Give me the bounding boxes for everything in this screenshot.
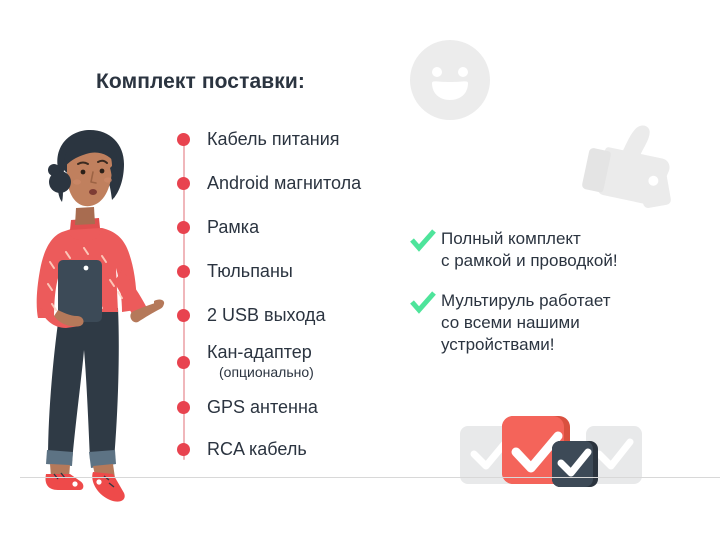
list-item-sublabel: (опционально) xyxy=(219,363,314,381)
bullet-dot-icon xyxy=(176,264,192,280)
list-item-label: Рамка xyxy=(207,216,259,238)
list-item-label-main: Кан-адаптер xyxy=(207,342,312,362)
benefit-item: Полный комплект с рамкой и проводкой! xyxy=(410,228,710,272)
smiley-face-icon xyxy=(408,38,492,122)
list-item-label: Тюльпаны xyxy=(207,260,293,282)
list-item-label: Android магнитола xyxy=(207,172,361,194)
list-item-label: Кан-адаптер (опционально) xyxy=(207,341,314,381)
ground-line xyxy=(20,477,720,478)
benefit-item: Мультируль работает со всеми нашими устр… xyxy=(410,290,710,356)
bullet-dot-icon xyxy=(176,308,192,324)
benefits-list: Полный комплект с рамкой и проводкой! Му… xyxy=(410,228,710,374)
list-item-label: 2 USB выхода xyxy=(207,304,325,326)
list-item: Рамка xyxy=(176,216,426,238)
benefit-label: Полный комплект с рамкой и проводкой! xyxy=(441,228,618,272)
list-item-label: GPS антенна xyxy=(207,396,318,418)
bullet-dot-icon xyxy=(176,442,192,458)
list-item: GPS антенна xyxy=(176,396,426,418)
checkbox-cards-icon xyxy=(458,408,644,492)
thumbs-up-icon xyxy=(578,118,682,214)
bullet-dot-icon xyxy=(176,176,192,192)
page-title: Комплект поставки: xyxy=(96,70,305,94)
woman-pointing-illustration xyxy=(14,112,170,502)
bullet-dot-icon xyxy=(176,220,192,236)
green-check-icon xyxy=(410,229,436,253)
green-check-icon xyxy=(410,291,436,315)
list-item: 2 USB выхода xyxy=(176,304,426,326)
promo-image: Комплект поставки: Кабель питания Androi… xyxy=(0,0,720,540)
list-item-label: Кабель питания xyxy=(207,128,340,150)
list-item: Тюльпаны xyxy=(176,260,426,282)
spec-list: Кабель питания Android магнитола Рамка Т… xyxy=(176,128,426,464)
avito-wordmark: Avito xyxy=(643,496,700,522)
bullet-dot-icon xyxy=(176,132,192,148)
bullet-dot-icon xyxy=(176,355,192,371)
benefit-label: Мультируль работает со всеми нашими устр… xyxy=(441,290,611,356)
list-item: Кабель питания xyxy=(176,128,426,150)
bullet-dot-icon xyxy=(176,400,192,416)
list-item-label: RCA кабель xyxy=(207,438,307,460)
list-item: RCA кабель xyxy=(176,438,426,460)
list-item: Кан-адаптер (опционально) xyxy=(176,341,426,381)
list-item: Android магнитола xyxy=(176,172,426,194)
avito-watermark: Avito xyxy=(612,492,708,522)
